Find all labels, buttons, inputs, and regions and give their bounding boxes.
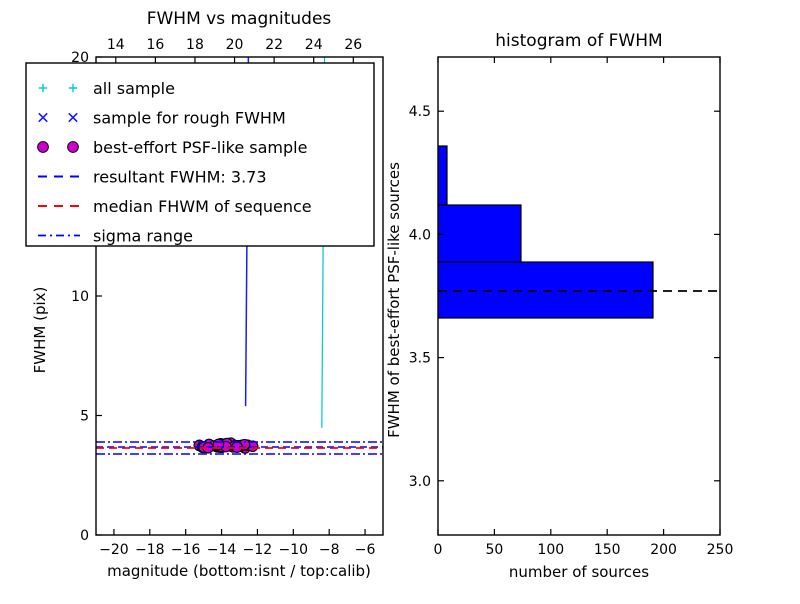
left-xtick-label-bottom: −20 xyxy=(99,542,129,558)
left-xtick-label-bottom: −18 xyxy=(135,542,165,558)
left-xaxis-label: magnitude (bottom:isnt / top:calib) xyxy=(107,562,371,580)
right-xtick-label: 250 xyxy=(707,542,734,558)
right-ytick-label: 4.5 xyxy=(409,104,431,120)
left-ytick-label: 0 xyxy=(80,528,89,544)
left-xtick-label-bottom: −14 xyxy=(207,542,237,558)
legend-item-label: resultant FWHM: 3.73 xyxy=(93,168,267,187)
right-xtick-label: 200 xyxy=(650,542,677,558)
legend-item-label: best-effort PSF-like sample xyxy=(93,138,307,157)
legend-marker-dot-icon xyxy=(38,142,49,153)
legend-item-label: median FHWM of sequence xyxy=(93,197,312,216)
left-xtick-label-bottom: −6 xyxy=(355,542,376,558)
histogram-bar xyxy=(438,146,447,205)
right-xaxis-label: number of sources xyxy=(509,563,649,581)
left-xtick-label-bottom: −12 xyxy=(243,542,273,558)
plot-svg: −20−18−16−14−12−10−8−6 14161820222426 05… xyxy=(0,0,800,600)
left-ytick-label: 5 xyxy=(80,409,89,425)
legend-item-label: all sample xyxy=(93,79,175,98)
right-xtick-label: 50 xyxy=(485,542,503,558)
left-xtick-label-top: 22 xyxy=(265,37,283,53)
histogram-bar xyxy=(438,205,521,262)
left-xtick-label-bottom: −10 xyxy=(279,542,309,558)
right-yaxis-label: FWHM of best-effort PSF-like sources xyxy=(385,162,403,438)
legend-item-label: sample for rough FWHM xyxy=(93,109,286,128)
legend-marker-dot-icon xyxy=(68,142,79,153)
left-xtick-label-top: 26 xyxy=(344,37,362,53)
legend: all samplesample for rough FWHMbest-effo… xyxy=(26,63,374,246)
histogram-bar xyxy=(438,262,653,318)
left-xtick-label-bottom: −16 xyxy=(171,542,201,558)
left-ytick-label: 10 xyxy=(71,289,89,305)
right-xtick-label: 100 xyxy=(537,542,564,558)
left-panel-title: FWHM vs magnitudes xyxy=(147,9,332,29)
right-panel-title: histogram of FWHM xyxy=(495,31,662,51)
left-xtick-label-top: 20 xyxy=(226,37,244,53)
left-xtick-label-top: 24 xyxy=(305,37,323,53)
figure-canvas: −20−18−16−14−12−10−8−6 14161820222426 05… xyxy=(0,0,800,600)
left-xtick-label-top: 14 xyxy=(107,37,125,53)
left-xtick-label-top: 18 xyxy=(186,37,204,53)
right-xtick-label: 0 xyxy=(434,542,443,558)
left-yaxis-label: FWHM (pix) xyxy=(31,287,49,374)
left-xtick-label-bottom: −8 xyxy=(319,542,340,558)
right-ytick-label: 3.5 xyxy=(409,351,431,367)
left-xtick-label-top: 16 xyxy=(146,37,164,53)
legend-item-label: sigma range xyxy=(93,227,193,246)
right-ytick-label: 3.0 xyxy=(409,474,431,490)
right-xtick-label: 150 xyxy=(594,542,621,558)
right-ytick-label: 4.0 xyxy=(409,227,431,243)
